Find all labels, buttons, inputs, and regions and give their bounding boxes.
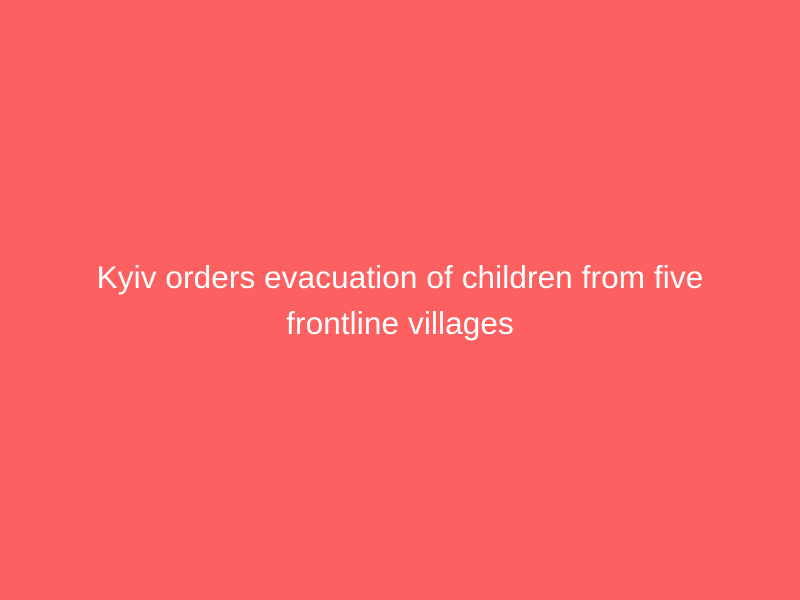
headline-block: Kyiv orders evacuation of children from … bbox=[50, 254, 750, 346]
headline-text: Kyiv orders evacuation of children from … bbox=[60, 254, 740, 346]
headline-placeholder-card: Kyiv orders evacuation of children from … bbox=[0, 0, 800, 600]
